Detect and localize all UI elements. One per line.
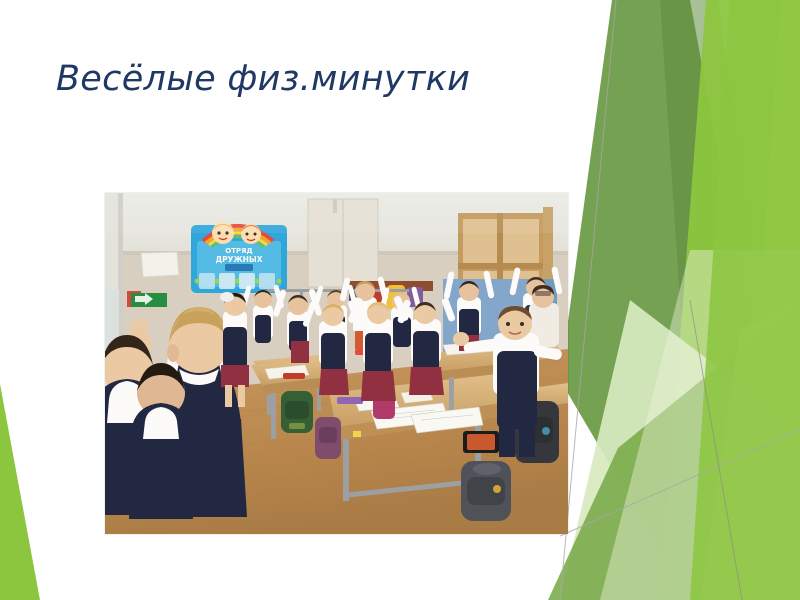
- decor-shape-bright-overlay: [690, 0, 800, 600]
- classroom-photo[interactable]: ОТРЯД ДРУЖНЫХ: [105, 193, 568, 534]
- decor-shape-bottom-left: [0, 384, 40, 600]
- decor-shape-light-lower: [700, 300, 800, 600]
- presentation-slide: Весёлые физ.минутки: [0, 0, 800, 600]
- decor-hairline-3: [690, 300, 742, 600]
- page-title: Весёлые физ.минутки: [56, 59, 470, 99]
- decor-shape-mid-lower: [548, 300, 800, 600]
- decor-shape-dark-band-2: [660, 0, 800, 600]
- decor-shape-pale-lower: [560, 300, 800, 600]
- decor-shape-dark-band: [560, 0, 800, 600]
- decor-shape-very-pale: [600, 250, 800, 600]
- slide-title-placeholder[interactable]: Весёлые физ.минутки: [56, 44, 576, 114]
- decor-shape-bright-right: [660, 0, 800, 600]
- decor-shape-light-right: [740, 0, 800, 600]
- decor-hairline-2: [560, 430, 800, 536]
